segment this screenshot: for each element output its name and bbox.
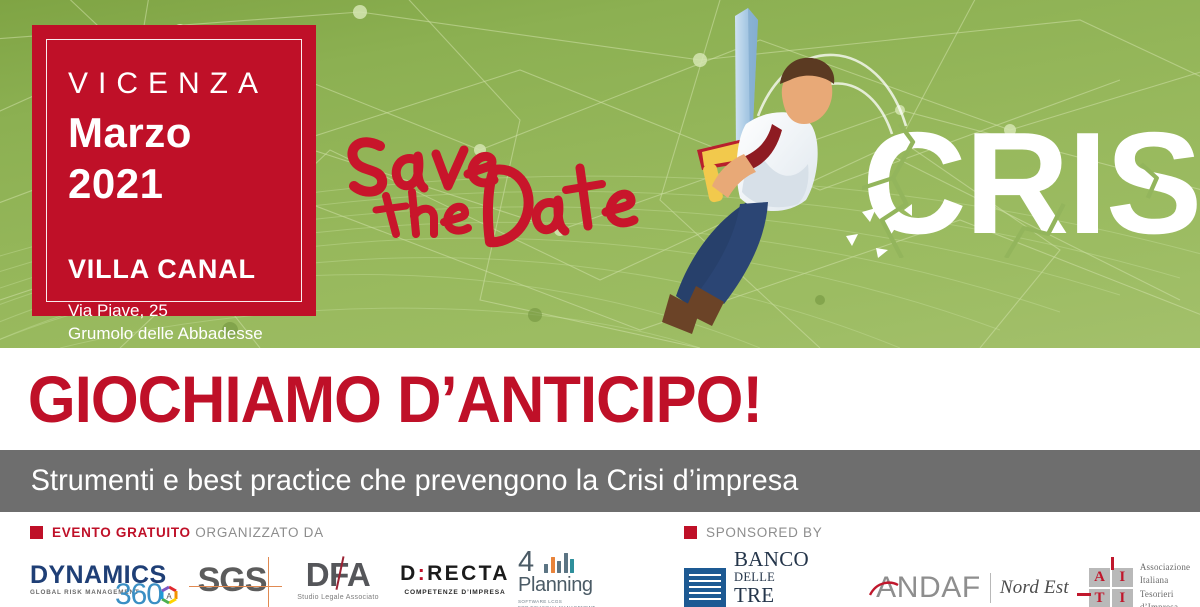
subtitle-band: Strumenti e best practice che prevengono… xyxy=(0,450,1200,512)
4planning-wordmark: Planning xyxy=(518,574,608,597)
andaf-region: Nord Est xyxy=(1000,577,1069,599)
event-city: VICENZA xyxy=(68,69,294,99)
logo-directa[interactable]: D:RECTA COMPETENZE D’IMPRESA xyxy=(392,563,518,596)
sgs-wordmark: SGS xyxy=(196,563,269,597)
event-date-card: VICENZA Marzo 2021 VILLA CANAL Via Piave… xyxy=(32,25,316,316)
event-address-town: Grumolo delle Abbadesse xyxy=(68,323,294,346)
headline-band: GIOCHIAMO D’ANTICIPO! xyxy=(0,348,1200,450)
crisi-word: CRISI xyxy=(862,108,1200,258)
hexagon-icon: A xyxy=(158,585,180,607)
banco-line3: TRE VENEZIESPA xyxy=(734,585,856,607)
footer-logos: EVENTO GRATUITO ORGANIZZATO DA DYNAMICS … xyxy=(0,512,1200,607)
directa-tagline: COMPETENZE D’IMPRESA xyxy=(392,589,518,596)
directa-wordmark: D:RECTA xyxy=(392,563,518,584)
banco-mark-icon xyxy=(684,568,726,607)
sgs-rule-vertical xyxy=(268,557,269,607)
sponsors-heading: SPONSORED BY xyxy=(684,512,1200,540)
aiti-name-line2: Tesorieri d’Impresa xyxy=(1140,588,1200,607)
logo-dynamics-360[interactable]: DYNAMICS GLOBAL RISK MANAGEMENT 360 A xyxy=(30,564,180,597)
aiti-horizontal-rule xyxy=(1077,593,1091,596)
organizers-label-strong: EVENTO GRATUITO xyxy=(52,525,191,540)
red-square-icon xyxy=(684,526,697,539)
logo-banco-delle-tre-venezie[interactable]: BANCO DELLE TRE VENEZIESPA xyxy=(684,549,856,607)
page-subtitle: Strumenti e best practice che prevengono… xyxy=(0,464,798,498)
save-the-date-script xyxy=(340,124,650,244)
andaf-wordmark: ANDAF xyxy=(874,573,981,603)
banco-line1: BANCO xyxy=(734,549,856,570)
aiti-letter-i2: I xyxy=(1112,589,1133,607)
logo-dfa[interactable]: DFA Studio Legale Associato xyxy=(284,558,392,601)
dfa-tagline: Studio Legale Associato xyxy=(284,594,392,601)
bar-chart-icon xyxy=(544,551,574,573)
page-title: GIOCHIAMO D’ANTICIPO! xyxy=(0,366,762,432)
event-month-year: Marzo 2021 xyxy=(68,107,294,209)
sponsors-label: SPONSORED BY xyxy=(706,525,822,540)
aiti-letter-a: A xyxy=(1089,568,1110,587)
aiti-letter-t: T xyxy=(1089,589,1110,607)
logo-andaf-nord-est[interactable]: ANDAF Nord Est xyxy=(874,573,1069,603)
sponsors-column: SPONSORED BY BANCO DELLE TRE VENEZIESPA xyxy=(684,512,1200,607)
organizers-label-light: ORGANIZZATO DA xyxy=(195,525,324,540)
andaf-swoosh-icon xyxy=(869,580,899,596)
aiti-letter-i1: I xyxy=(1112,568,1133,587)
organizers-heading: EVENTO GRATUITO ORGANIZZATO DA xyxy=(30,512,608,540)
4planning-tagline: SOFTWARE LCGS FOR FINANCIAL MANAGEMENT xyxy=(518,599,608,607)
dfa-wordmark: DFA xyxy=(306,558,371,591)
logo-sgs[interactable]: SGS xyxy=(180,563,284,597)
event-venue: VILLA CANAL xyxy=(68,254,294,285)
red-square-icon xyxy=(30,526,43,539)
crack-overlay xyxy=(862,108,1200,258)
aiti-vertical-rule xyxy=(1111,557,1114,570)
event-address-street: Via Piave, 25 xyxy=(68,300,294,323)
logo-4planning[interactable]: 4 Planning SOFTWARE LCGS FOR FINANCIAL M… xyxy=(518,549,608,607)
logo-aiti[interactable]: A I T I Associazione Italiana Tesorieri … xyxy=(1089,561,1200,607)
event-banner-poster: VICENZA Marzo 2021 VILLA CANAL Via Piave… xyxy=(0,0,1200,607)
svg-text:A: A xyxy=(166,592,172,601)
hero-section: VICENZA Marzo 2021 VILLA CANAL Via Piave… xyxy=(0,0,1200,348)
aiti-name-line1: Associazione Italiana xyxy=(1140,561,1200,588)
aiti-mark-icon: A I T I xyxy=(1089,568,1133,607)
organizers-column: EVENTO GRATUITO ORGANIZZATO DA DYNAMICS … xyxy=(30,512,608,607)
andaf-divider xyxy=(990,573,991,603)
dynamics-360-number: 360 xyxy=(115,580,162,607)
